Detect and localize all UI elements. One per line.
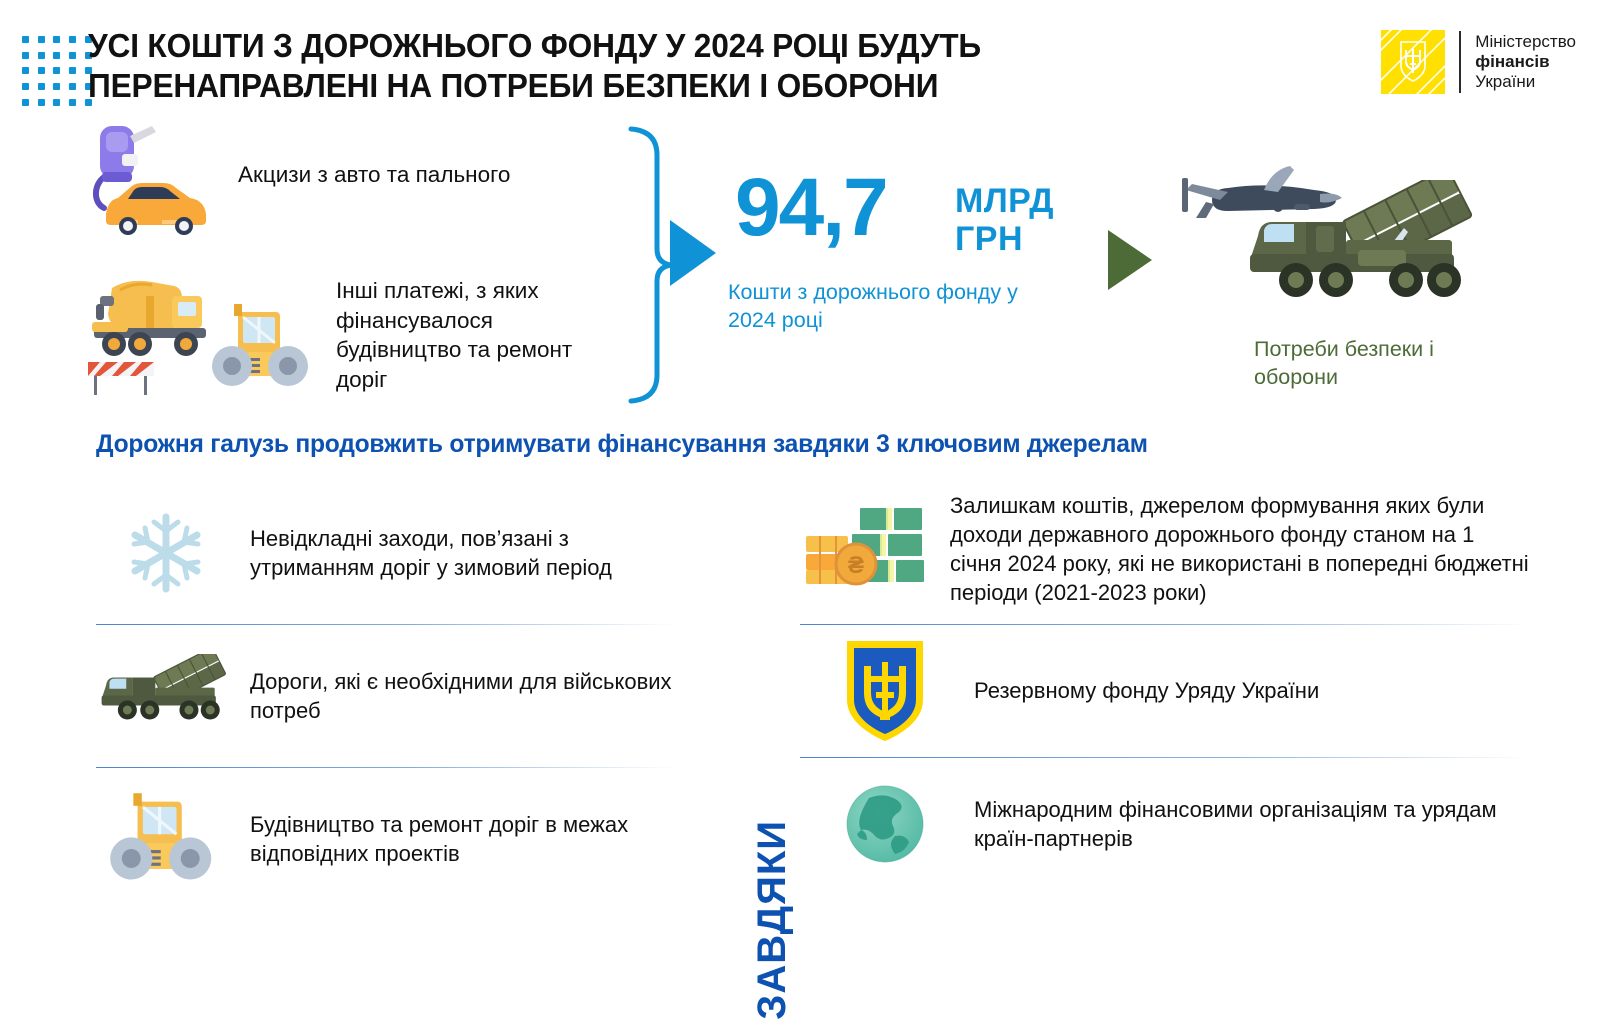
globe-icon (800, 778, 970, 870)
list-item: Невідкладні заходи, пов’язані з утриманн… (96, 482, 676, 624)
list-item: ₴ Залишкам коштів, джерелом формування я… (800, 474, 1530, 624)
fuel-nozzle-car-icon (86, 120, 236, 245)
money-stacks-icon: ₴ (800, 494, 950, 604)
section-heading: Дорожня галузь продовжить отримувати фін… (96, 430, 1495, 459)
vertical-label-zavdyaky: ЗАВДЯКИ (702, 500, 762, 820)
logo-divider (1459, 31, 1461, 93)
infographic-page: УСІ КОШТИ З ДОРОЖНЬОГО ФОНДУ У 2024 РОЦІ… (0, 0, 1600, 900)
list-item: Резервному фонду Уряду України (800, 625, 1530, 757)
left-sources-list: Невідкладні заходи, пов’язані з утриманн… (96, 482, 676, 910)
divider (96, 767, 676, 768)
list-item-label: Залишкам коштів, джерелом формування яки… (950, 491, 1530, 607)
list-item-label: Дороги, які є необхідними для військових… (236, 667, 676, 725)
amount-unit-line1: МЛРД (955, 182, 1054, 220)
source-item-label-1: Акцизи з авто та пального (238, 160, 618, 190)
amount-value: 94,7 (735, 170, 887, 245)
logo-line-2: фінансів (1475, 52, 1576, 72)
list-item: Міжнародним фінансовими організаціям та … (800, 758, 1530, 890)
list-item-label: Будівництво та ремонт доріг в межах відп… (236, 810, 676, 868)
dot-grid-decoration (18, 32, 96, 110)
list-item-label: Міжнародним фінансовими організаціям та … (970, 795, 1530, 853)
source-item-label-2: Інші платежі, з яких фінансувалося будів… (336, 276, 616, 395)
logo-text: Міністерство фінансів України (1475, 32, 1576, 92)
divider (800, 624, 1530, 625)
ukraine-coat-of-arms-icon (800, 636, 970, 746)
amount-unit: МЛРД ГРН (955, 182, 1054, 258)
arrow-right-green-icon (1106, 228, 1154, 292)
logo-line-3: України (1475, 72, 1576, 92)
ukraine-trident-logo-icon (1381, 30, 1445, 94)
amount-unit-line2: ГРН (955, 220, 1054, 258)
rocket-launcher-truck-icon (96, 654, 236, 738)
page-title-line2: ПЕРЕНАПРАВЛЕНІ НА ПОТРЕБИ БЕЗПЕКИ І ОБОР… (88, 66, 1202, 106)
right-sources-list: ₴ Залишкам коштів, джерелом формування я… (800, 474, 1530, 890)
road-roller-icon (96, 789, 236, 889)
rocket-launcher-truck-icon (1240, 180, 1490, 330)
list-item-label: Невідкладні заходи, пов’язані з утриманн… (236, 524, 676, 582)
divider (800, 757, 1530, 758)
vertical-label-text: ЗАВДЯКИ (750, 820, 795, 1020)
list-item: Будівництво та ремонт доріг в межах відп… (96, 768, 676, 910)
road-roller-icon-top (210, 300, 320, 395)
divider (96, 624, 676, 625)
svg-text:₴: ₴ (848, 552, 864, 579)
page-title: УСІ КОШТИ З ДОРОЖНЬОГО ФОНДУ У 2024 РОЦІ… (88, 26, 1202, 107)
list-item: Дороги, які є необхідними для військових… (96, 625, 676, 767)
logo-line-1: Міністерство (1475, 32, 1576, 52)
snowflake-icon (96, 511, 236, 595)
amount-caption: Кошти з дорожнього фонду у 2024 році (728, 278, 1028, 335)
arrow-right-blue-icon (668, 218, 718, 288)
page-title-line1: УСІ КОШТИ З ДОРОЖНЬОГО ФОНДУ У 2024 РОЦІ… (88, 26, 1202, 66)
list-item-label: Резервному фонду Уряду України (970, 676, 1319, 705)
destination-caption: Потреби безпеки і оборони (1254, 335, 1514, 392)
ministry-logo: Міністерство фінансів України (1381, 30, 1576, 94)
